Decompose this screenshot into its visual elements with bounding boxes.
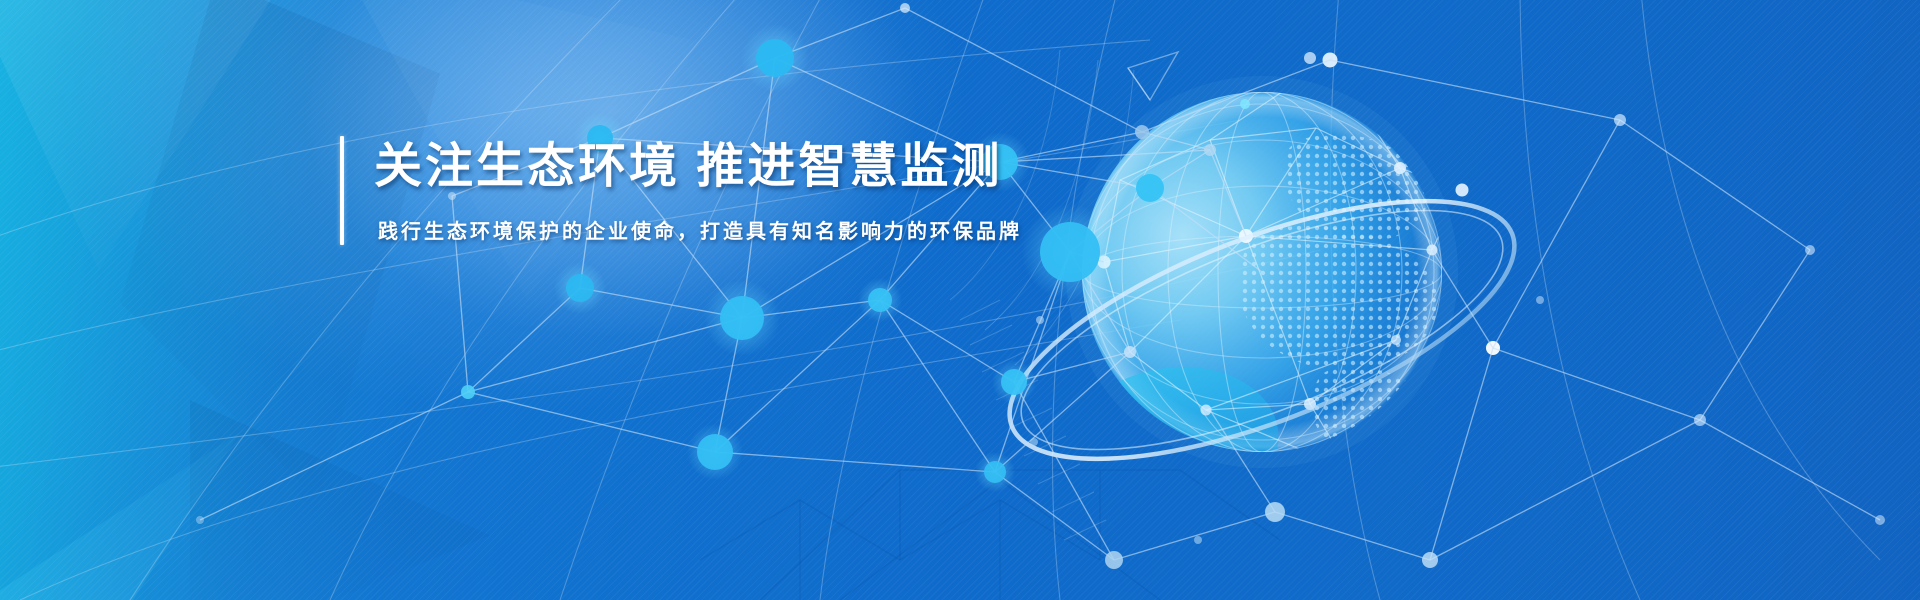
network-nodes [196, 3, 1885, 569]
page-title: 关注生态环境 推进智慧监测 [374, 138, 1022, 197]
network-globe-artwork [0, 0, 1920, 600]
triangle-glyph [1128, 52, 1178, 100]
wireframe-globe [1066, 53, 1500, 512]
page-subtitle: 践行生态环境保护的企业使命，打造具有知名影响力的环保品牌 [378, 219, 1022, 245]
hero-copy-block: 关注生态环境 推进智慧监测 践行生态环境保护的企业使命，打造具有知名影响力的环保… [340, 136, 1022, 245]
hero-banner: 关注生态环境 推进智慧监测 践行生态环境保护的企业使命，打造具有知名影响力的环保… [0, 0, 1920, 600]
accent-rule [340, 136, 344, 245]
background-arcs [0, 0, 1880, 600]
hero-text-lines: 关注生态环境 推进智慧监测 践行生态环境保护的企业使命，打造具有知名影响力的环保… [374, 136, 1022, 245]
